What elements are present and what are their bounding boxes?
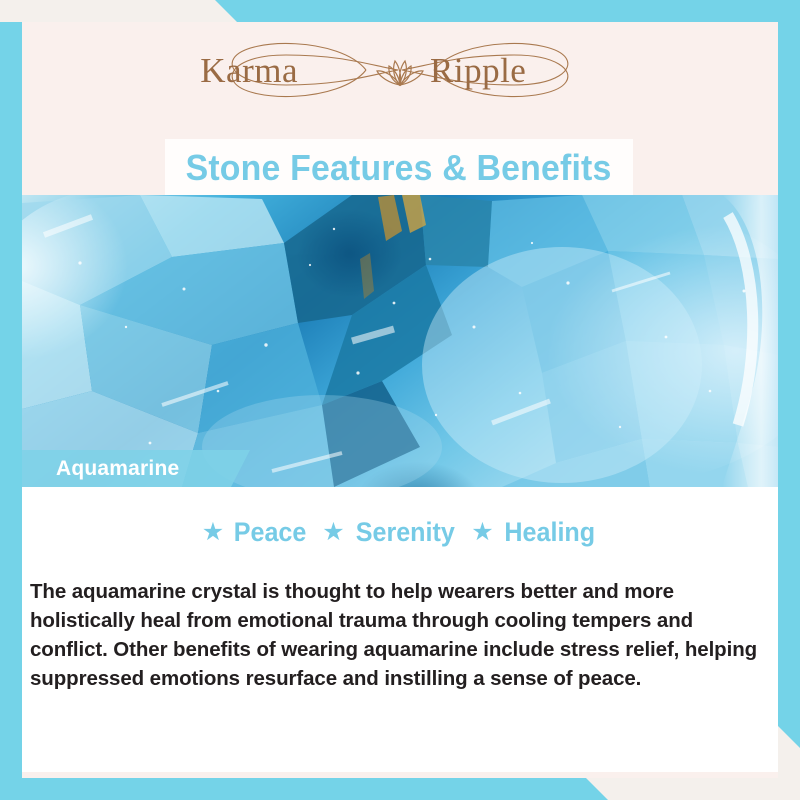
hero-image-aquamarine-crystal [22, 195, 778, 487]
keyword-item-healing: ★ Healing [471, 517, 598, 548]
logo-svg: Karma Ripple [190, 33, 610, 107]
star-icon: ★ [471, 520, 493, 545]
page-title: Stone Features & Benefits [186, 147, 612, 189]
brand-name-left: Karma [200, 51, 298, 90]
corner-accent-bottom-left [0, 778, 800, 800]
keyword-item-serenity: ★ Serenity [322, 517, 458, 548]
border-accent-left [0, 22, 22, 778]
keyword-label-serenity: Serenity [355, 517, 454, 548]
keyword-label-healing: Healing [504, 517, 595, 548]
star-icon: ★ [322, 520, 344, 545]
keyword-label-peace: Peace [234, 517, 307, 548]
crystal-illustration [22, 195, 778, 487]
keyword-item-peace: ★ Peace [202, 517, 310, 548]
title-banner: Stone Features & Benefits [165, 139, 633, 197]
stone-name-label: Aquamarine [56, 457, 179, 481]
corner-accent-top-right [0, 0, 800, 22]
keyword-row: ★ Peace ★ Serenity ★ Healing [22, 512, 778, 552]
brand-name-right: Ripple [430, 51, 526, 90]
brand-logo: Karma Ripple [0, 22, 800, 118]
stone-description: The aquamarine crystal is thought to hel… [22, 577, 778, 693]
star-icon: ★ [202, 520, 224, 545]
stone-name-band: Aquamarine [22, 450, 250, 487]
infographic-canvas: Karma Ripple Stone Features & Benefits [0, 0, 800, 800]
